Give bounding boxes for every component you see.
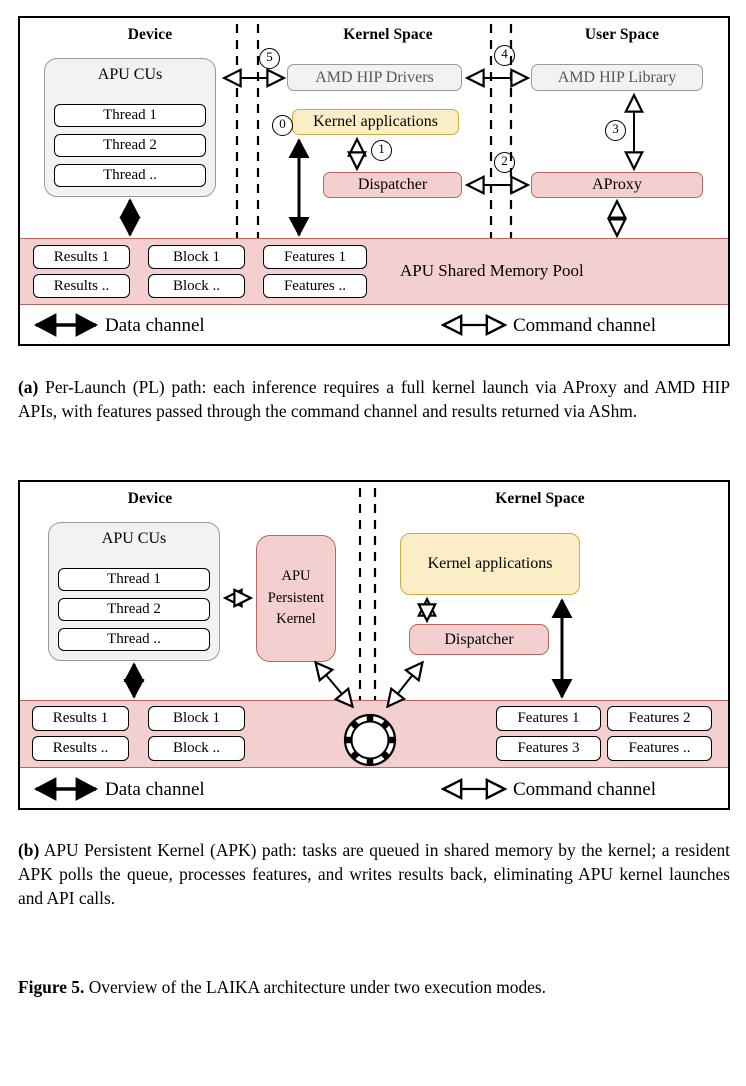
panel-a-user-space-title: User Space <box>522 26 722 44</box>
panel-b-mem-block-1: Block 1 <box>148 706 245 731</box>
panel-b-mem-block-dots: Block .. <box>148 736 245 761</box>
apk-line-2: Persistent <box>268 588 324 610</box>
panel-a-caption-label: (a) <box>18 377 38 397</box>
panel-b-device-title: Device <box>50 490 250 508</box>
panel-a-step-5: 5 <box>259 48 280 69</box>
apk-line-3: Kernel <box>276 609 315 631</box>
panel-a-step-4: 4 <box>494 45 515 66</box>
panel-a-kernel-applications: Kernel applications <box>292 109 459 135</box>
panel-b-kernel-space-title: Kernel Space <box>440 490 640 508</box>
panel-a-amd-hip-drivers: AMD HIP Drivers <box>287 64 462 91</box>
panel-a-legend-command-channel: Command channel <box>513 315 656 337</box>
panel-b-caption: (b) APU Persistent Kernel (APK) path: ta… <box>18 838 730 910</box>
panel-b-mem-features-3: Features 3 <box>496 736 601 761</box>
panel-b-caption-label: (b) <box>18 840 39 860</box>
panel-a-thread-1: Thread 1 <box>54 104 206 127</box>
panel-b-thread-1: Thread 1 <box>58 568 210 591</box>
figure-caption-label: Figure 5. <box>18 977 84 997</box>
panel-a-step-2: 2 <box>494 152 515 173</box>
panel-b-thread-2: Thread 2 <box>58 598 210 621</box>
panel-a-thread-2: Thread 2 <box>54 134 206 157</box>
panel-b-tasks-queue-label: Tasks <box>353 728 381 743</box>
panel-a-shared-memory-pool-label: APU Shared Memory Pool <box>400 261 584 281</box>
panel-a-kernel-space-title: Kernel Space <box>288 26 488 44</box>
panel-a-step-1: 1 <box>371 140 392 161</box>
figure-caption: Figure 5. Overview of the LAIKA architec… <box>18 975 730 999</box>
apk-line-1: APU <box>281 566 310 588</box>
panel-a-mem-block-dots: Block .. <box>148 274 245 298</box>
panel-b-mem-features-2: Features 2 <box>607 706 712 731</box>
panel-a-mem-features-dots: Features .. <box>263 274 367 298</box>
panel-a-legend-data-channel: Data channel <box>105 315 205 337</box>
panel-a-step-3: 3 <box>605 120 626 141</box>
panel-a-aproxy: AProxy <box>531 172 703 198</box>
panel-a-dispatcher: Dispatcher <box>323 172 462 198</box>
panel-a-mem-block-1: Block 1 <box>148 245 245 269</box>
panel-a-amd-hip-library: AMD HIP Library <box>531 64 703 91</box>
panel-a-thread-dots: Thread .. <box>54 164 206 187</box>
figure-caption-text: Overview of the LAIKA architecture under… <box>89 977 546 997</box>
panel-b-legend-data-channel: Data channel <box>105 779 205 801</box>
panel-b-caption-text: APU Persistent Kernel (APK) path: tasks … <box>18 840 730 908</box>
figure-5: Device Kernel Space User Space APU CUs T… <box>0 0 746 1086</box>
panel-a-mem-results-dots: Results .. <box>33 274 130 298</box>
panel-b-apu-cus-label: APU CUs <box>48 530 220 548</box>
panel-b-legend-command-channel: Command channel <box>513 779 656 801</box>
panel-a-mem-results-1: Results 1 <box>33 245 130 269</box>
panel-b-thread-dots: Thread .. <box>58 628 210 651</box>
panel-b-kernel-applications: Kernel applications <box>400 533 580 595</box>
panel-a-device-title: Device <box>50 26 250 44</box>
panel-b-apu-persistent-kernel: APU Persistent Kernel <box>256 535 336 662</box>
panel-b-mem-results-1: Results 1 <box>32 706 129 731</box>
panel-b-mem-results-dots: Results .. <box>32 736 129 761</box>
panel-b-dispatcher: Dispatcher <box>409 624 549 655</box>
panel-b-mem-features-dots: Features .. <box>607 736 712 761</box>
panel-a-step-0: 0 <box>272 115 293 136</box>
panel-a-caption-text: Per-Launch (PL) path: each inference req… <box>18 377 730 421</box>
panel-b-mem-features-1: Features 1 <box>496 706 601 731</box>
panel-a-apu-cus-label: APU CUs <box>44 66 216 84</box>
panel-a-caption: (a) Per-Launch (PL) path: each inference… <box>18 375 730 423</box>
panel-a-mem-features-1: Features 1 <box>263 245 367 269</box>
